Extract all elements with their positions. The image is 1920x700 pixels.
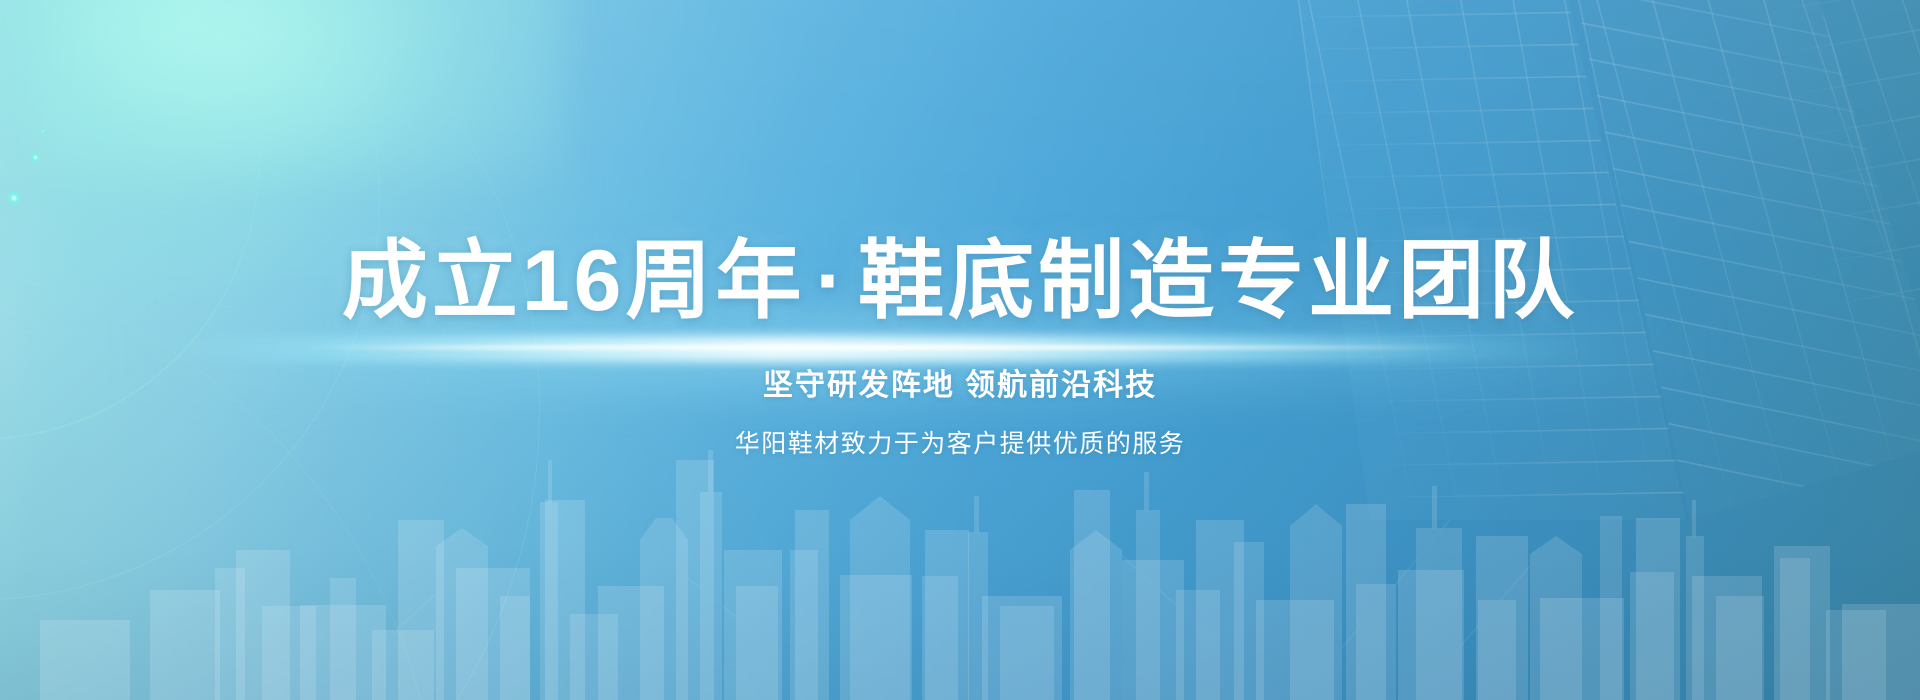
hero-banner: 成立16周年·鞋底制造专业团队 坚守研发阵地 领航前沿科技 华阳鞋材致力于为客户… <box>0 0 1920 700</box>
headline-suffix: 鞋底制造专业团队 <box>858 233 1578 329</box>
headline-prefix: 成立16周年 <box>342 233 806 329</box>
headline-separator: · <box>806 233 859 329</box>
subtitle-primary: 坚守研发阵地 领航前沿科技 <box>763 360 1157 404</box>
page-title: 成立16周年·鞋底制造专业团队 <box>342 232 1578 330</box>
subtitle-secondary: 华阳鞋材致力于为客户提供优质的服务 <box>735 424 1186 460</box>
banner-content: 成立16周年·鞋底制造专业团队 坚守研发阵地 领航前沿科技 华阳鞋材致力于为客户… <box>0 0 1920 700</box>
